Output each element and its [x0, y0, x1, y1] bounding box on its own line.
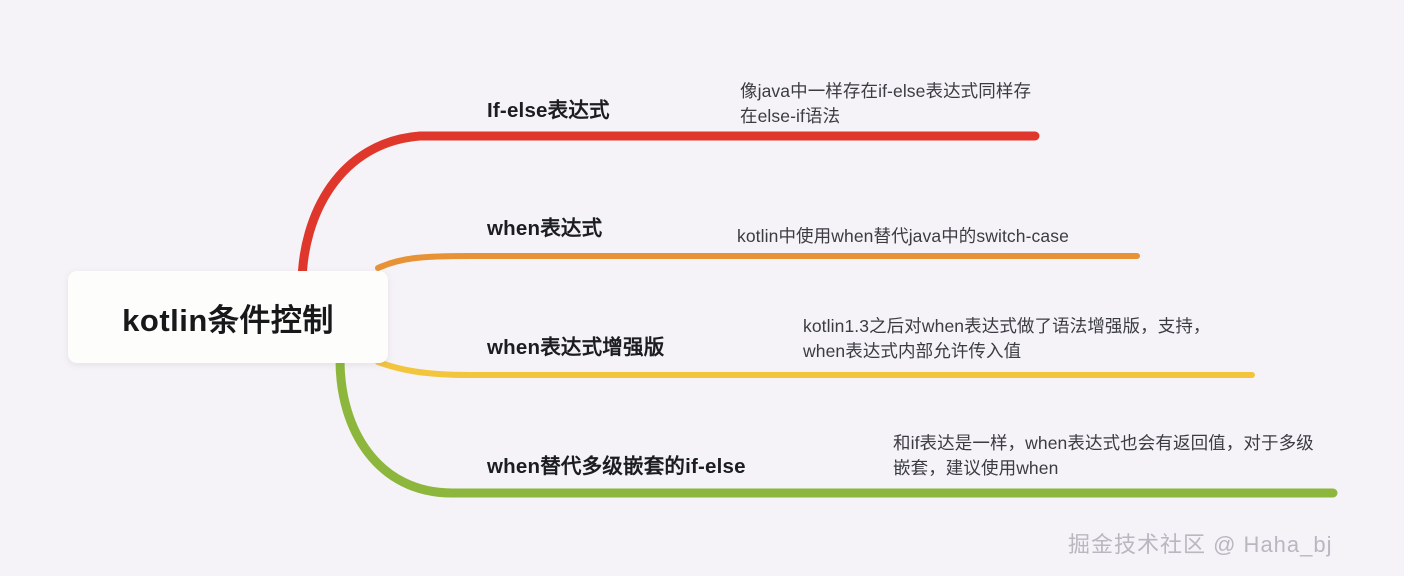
- branch-label-when-enhanced[interactable]: when表达式增强版: [487, 330, 664, 360]
- branch-label-if-else[interactable]: If-else表达式: [487, 93, 610, 123]
- branch-detail-if-else: 像java中一样存在if-else表达式同样存在else-if语法: [740, 79, 1040, 129]
- root-node-label: kotlin条件控制: [122, 295, 334, 340]
- branch-line-3: [378, 362, 1252, 375]
- root-node[interactable]: kotlin条件控制: [68, 271, 388, 363]
- branch-line-2: [378, 256, 1137, 268]
- branch-detail-when-nested: 和if表达是一样，when表达式也会有返回值，对于多级嵌套，建议使用when: [893, 431, 1331, 481]
- branch-line-1: [302, 136, 1035, 285]
- watermark: 掘金技术社区 @ Haha_bj: [1068, 527, 1333, 559]
- branch-detail-when-enhanced: kotlin1.3之后对when表达式做了语法增强版，支持，when表达式内部允…: [803, 314, 1251, 364]
- branch-label-when[interactable]: when表达式: [487, 211, 602, 241]
- branch-detail-when: kotlin中使用when替代java中的switch-case: [737, 224, 1157, 249]
- mindmap-canvas: kotlin条件控制 If-else表达式 像java中一样存在if-else表…: [0, 0, 1404, 576]
- branch-label-when-nested[interactable]: when替代多级嵌套的if-else: [487, 449, 746, 479]
